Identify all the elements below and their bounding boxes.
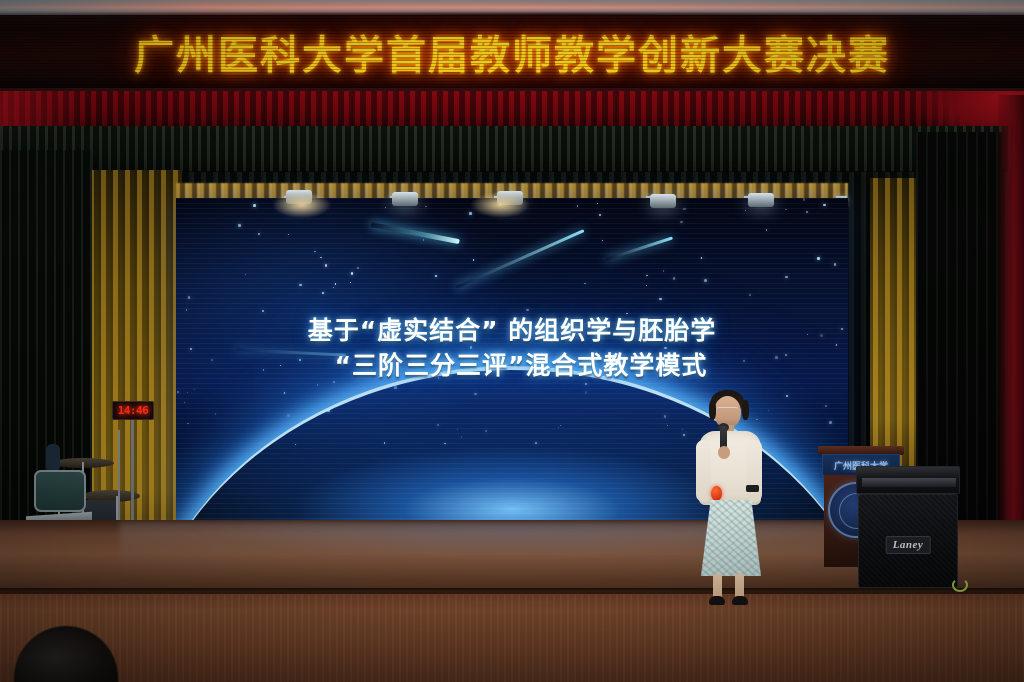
presenter [685, 388, 777, 600]
presenter-badge [711, 486, 722, 501]
amplifier-brand-logo: Laney [886, 536, 931, 554]
presenter-arm-right [747, 440, 762, 502]
presenter-hand [718, 446, 730, 459]
timer-digits: 14:46 [118, 404, 149, 417]
presenter-arm-left [696, 440, 711, 502]
screen-title-line-2: “三阶三分三评”混合式教学模式 [176, 349, 848, 384]
spot-glow-left [272, 192, 332, 218]
drum-hardware [46, 444, 60, 472]
stage-light-2 [392, 192, 418, 206]
presenter-shoe-left [709, 596, 725, 605]
stage-curtain-top-fold [0, 126, 1024, 172]
amplifier-cabinet: Laney [858, 494, 958, 588]
wristwatch-icon [746, 485, 759, 492]
stage-apron [0, 592, 1024, 682]
amplifier-head-panel [862, 478, 956, 487]
led-banner: 广州医科大学首届教师教学创新大赛决赛 [0, 15, 1024, 91]
presenter-skirt [701, 500, 761, 576]
presenter-head [714, 396, 741, 428]
stage-light-4 [650, 194, 676, 208]
led-banner-text: 广州医科大学首届教师教学创新大赛决赛 [0, 23, 1024, 81]
presenter-shoe-right [732, 596, 748, 605]
stage-light-5 [748, 193, 774, 207]
countdown-timer-display: 14:46 [112, 401, 154, 420]
screen-title-block: 基于“虚实结合” 的组织学与胚胎学 “三阶三分三评”混合式教学模式 [176, 314, 848, 383]
chair-backrest [34, 470, 86, 512]
amplifier-head [856, 466, 960, 494]
amplifier-stack: Laney [856, 466, 960, 588]
spot-glow-center [470, 192, 530, 218]
screen-title-line-1: 基于“虚实结合” 的组织学与胚胎学 [176, 314, 848, 349]
ceiling-color-tint [0, 0, 1024, 16]
red-curtain-right-edge [998, 95, 1024, 565]
presenter-hair-left [709, 400, 716, 420]
auditorium-stage-photo: 广州医科大学首届教师教学创新大赛决赛 基于“虚实结合” 的组织学与胚胎学 “三阶… [0, 0, 1024, 682]
amplifier-cable [952, 578, 968, 592]
presenter-hair-right [742, 400, 749, 420]
glasses-icon [717, 407, 738, 412]
